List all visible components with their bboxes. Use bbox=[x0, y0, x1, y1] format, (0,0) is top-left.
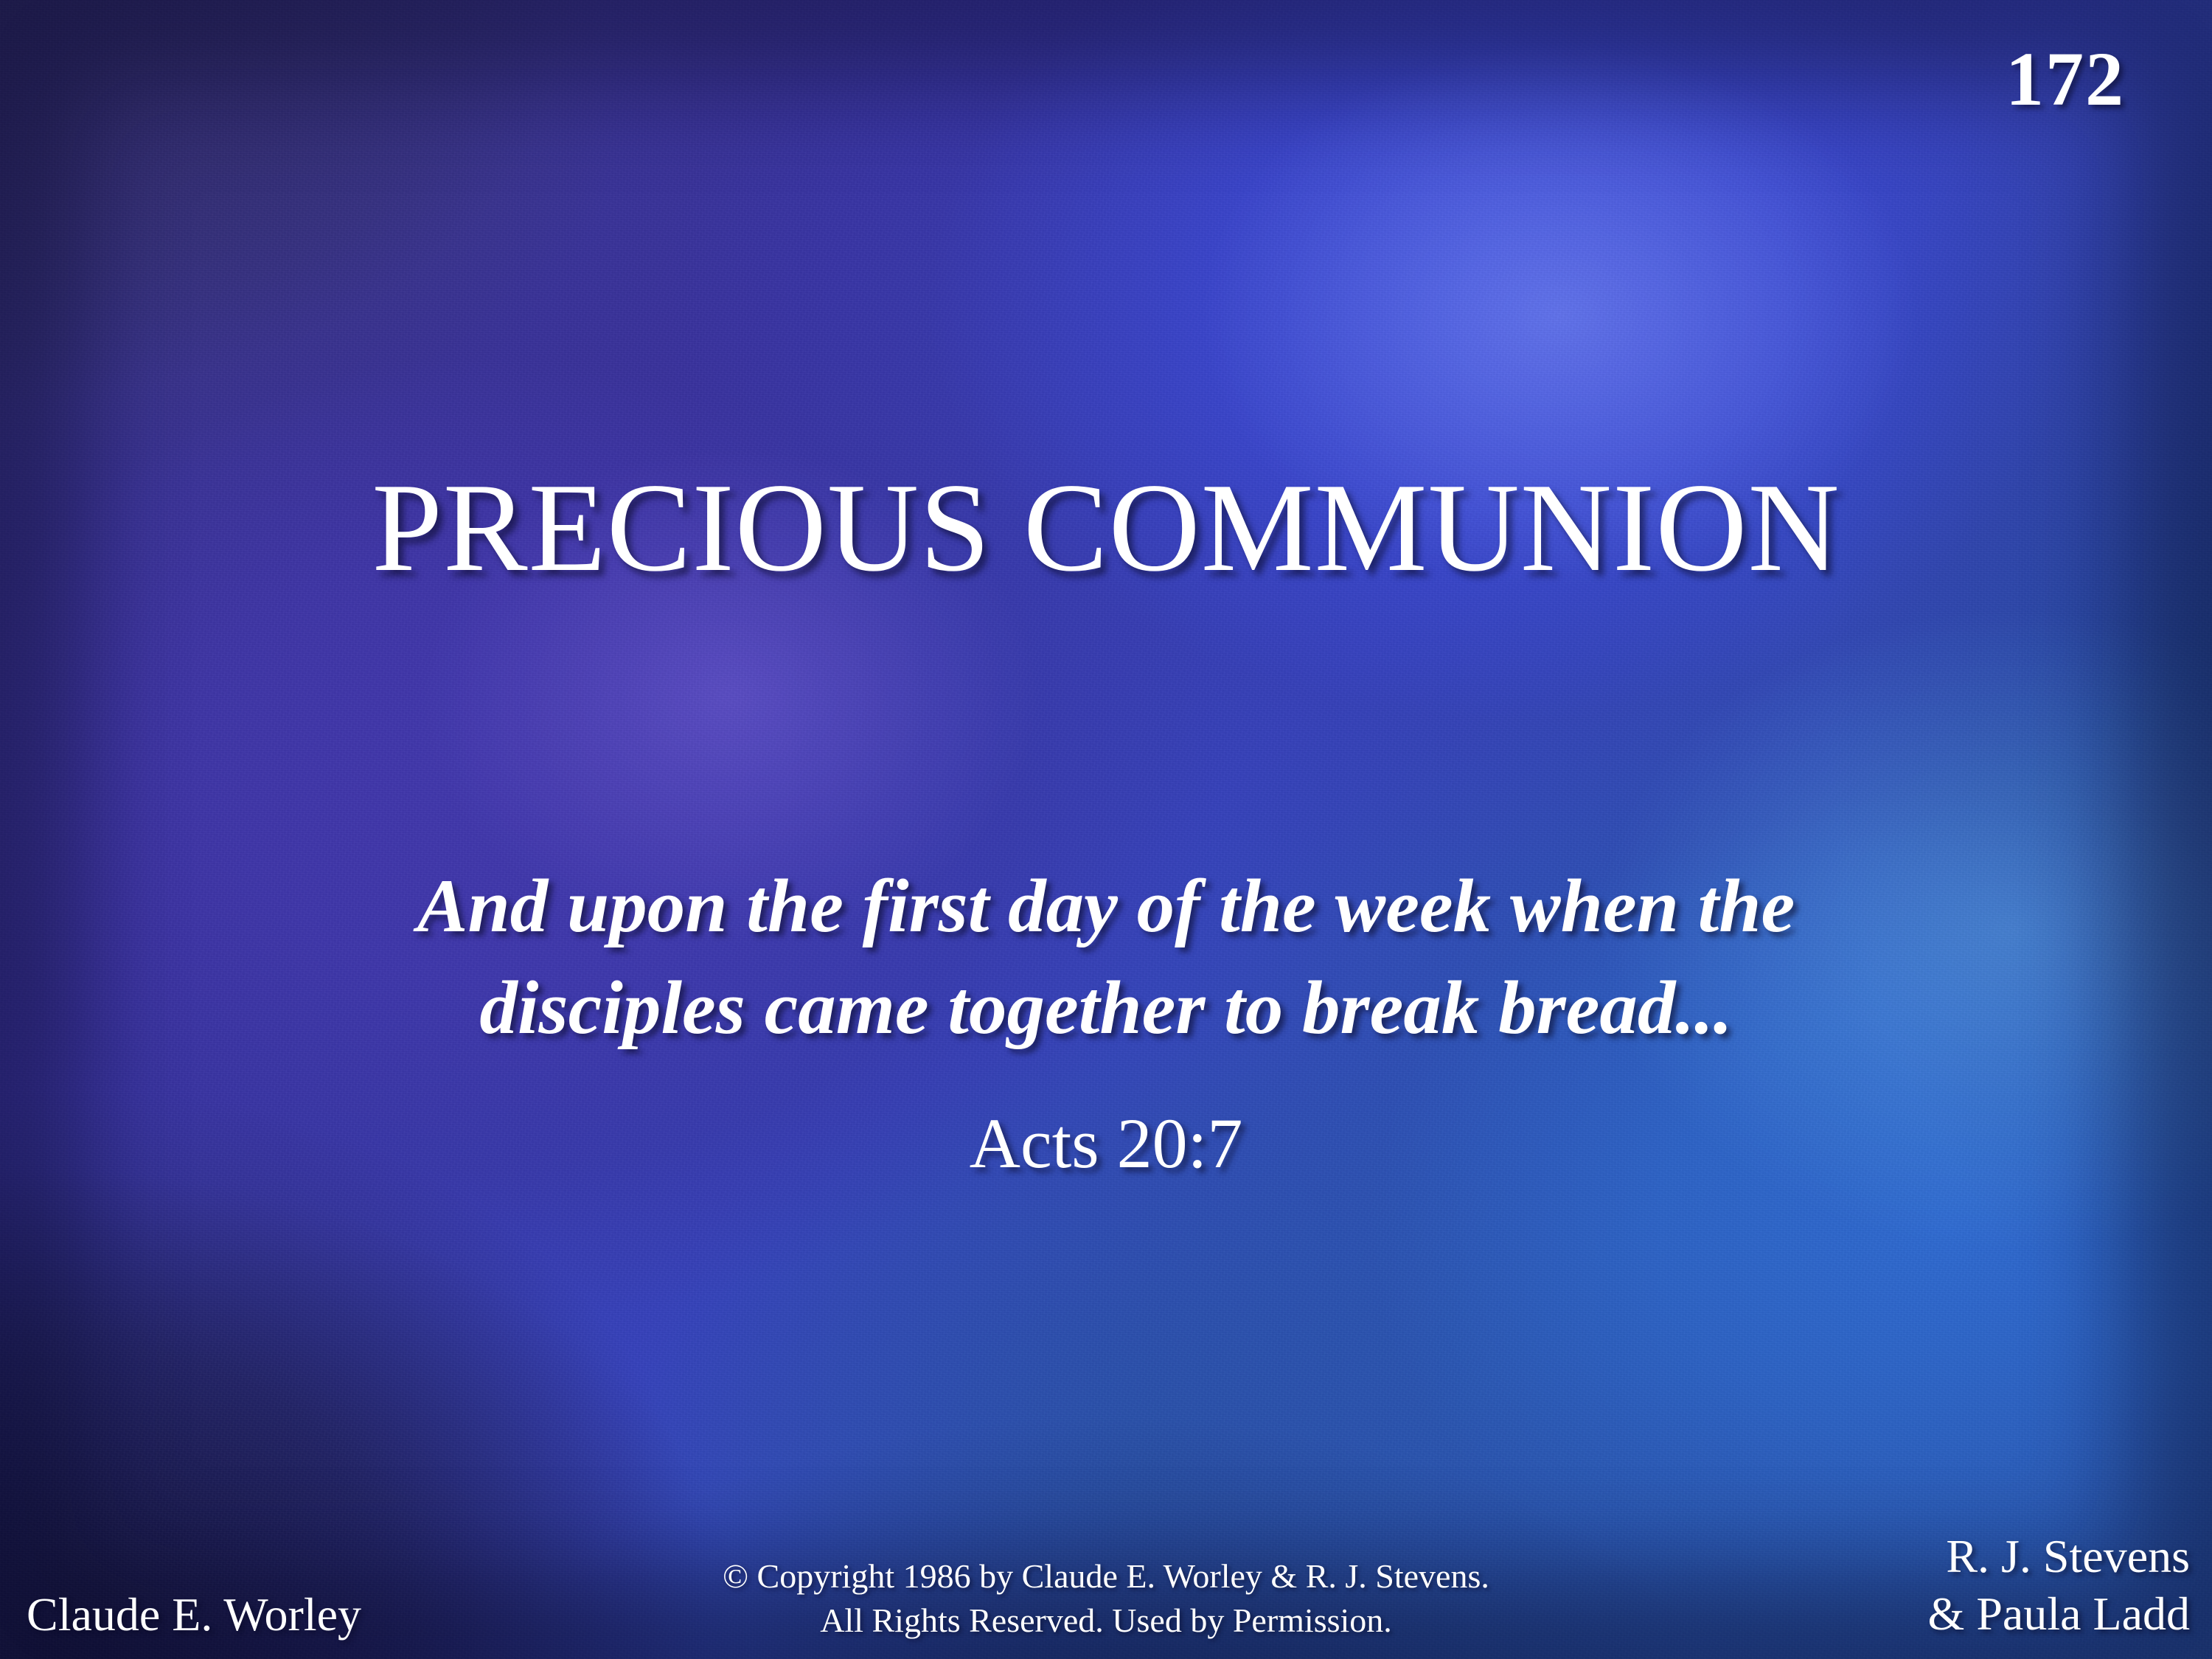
slide-number: 172 bbox=[2006, 41, 2125, 118]
credit-author-left: Claude E. Worley bbox=[27, 1588, 361, 1641]
credit-authors-right: R. J. Stevens & Paula Ladd bbox=[1928, 1528, 2190, 1643]
copyright-line-1: © Copyright 1986 by Claude E. Worley & R… bbox=[590, 1554, 1622, 1599]
copyright-notice: © Copyright 1986 by Claude E. Worley & R… bbox=[590, 1554, 1622, 1643]
page-title: PRECIOUS COMMUNION bbox=[0, 465, 2212, 591]
credit-right-line-2: & Paula Ladd bbox=[1928, 1585, 2190, 1643]
scripture-reference: Acts 20:7 bbox=[0, 1105, 2212, 1183]
hymn-slide: 172 PRECIOUS COMMUNION And upon the firs… bbox=[0, 0, 2212, 1659]
verse-line-1: And upon the first day of the week when … bbox=[140, 855, 2072, 957]
verse-line-2: disciples came together to break bread..… bbox=[140, 957, 2072, 1059]
copyright-line-2: All Rights Reserved. Used by Permission. bbox=[590, 1599, 1622, 1643]
credit-right-line-1: R. J. Stevens bbox=[1928, 1528, 2190, 1585]
slide-content: 172 PRECIOUS COMMUNION And upon the firs… bbox=[0, 0, 2212, 1659]
scripture-verse: And upon the first day of the week when … bbox=[140, 855, 2072, 1059]
